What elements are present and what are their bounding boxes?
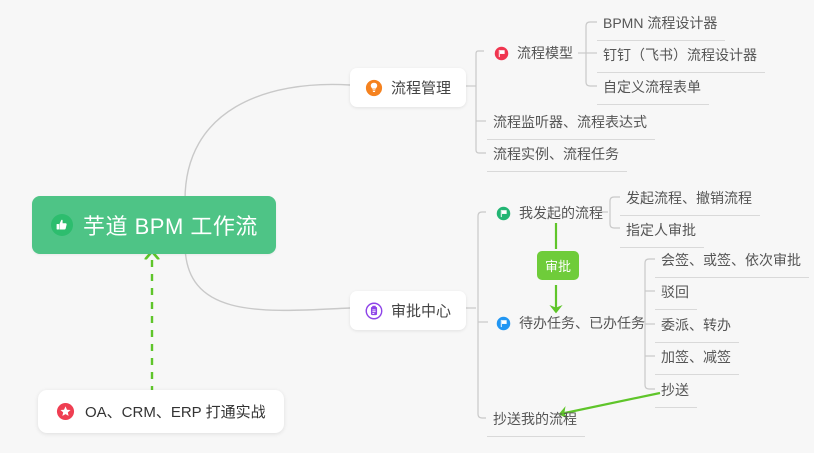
node-label-reject: 驳回 xyxy=(661,282,689,302)
node-my-initiated[interactable]: 我发起的流程 xyxy=(490,198,611,230)
branch-node-approval-center[interactable]: 审批中心 xyxy=(350,291,466,330)
node-custom-form[interactable]: 自定义流程表单 xyxy=(597,72,709,105)
node-label-countersign-approval: 会签、或签、依次审批 xyxy=(661,250,801,270)
flag-icon xyxy=(494,46,509,61)
root-node[interactable]: 芋道 BPM 工作流 xyxy=(32,196,276,254)
node-assigned-approval[interactable]: 指定人审批 xyxy=(620,215,704,248)
node-process-model[interactable]: 流程模型 xyxy=(488,38,581,70)
link-bracket-process-management xyxy=(476,51,486,153)
integration-card[interactable]: OA、CRM、ERP 打通实战 xyxy=(38,390,284,433)
integration-card-label: OA、CRM、ERP 打通实战 xyxy=(85,401,266,422)
node-label-cc-to-me: 抄送我的流程 xyxy=(493,409,577,429)
node-reject[interactable]: 驳回 xyxy=(655,277,697,310)
mindmap-canvas: 芋道 BPM 工作流 流程管理 流程模型 BPMN 流程设计器 钉钉（飞书 xyxy=(0,0,814,453)
flag-icon xyxy=(496,206,511,221)
node-label-delegate-transfer: 委派、转办 xyxy=(661,315,731,335)
node-todo-done-tasks[interactable]: 待办任务、已办任务 xyxy=(490,308,653,340)
node-delegate-transfer[interactable]: 委派、转办 xyxy=(655,310,739,343)
link-bracket-process-model xyxy=(586,22,597,86)
node-label-custom-form: 自定义流程表单 xyxy=(603,77,701,97)
node-dingtalk-designer[interactable]: 钉钉（飞书）流程设计器 xyxy=(597,40,765,73)
approval-tag: 审批 xyxy=(537,251,579,280)
node-label-add-remove-sign: 加签、减签 xyxy=(661,347,731,367)
node-countersign-approval[interactable]: 会签、或签、依次审批 xyxy=(655,245,809,278)
node-label-my-initiated: 我发起的流程 xyxy=(519,203,603,223)
node-label-bpmn-designer: BPMN 流程设计器 xyxy=(603,13,717,33)
root-node-label: 芋道 BPM 工作流 xyxy=(83,209,258,241)
thumbs-up-icon xyxy=(50,213,74,237)
node-cc[interactable]: 抄送 xyxy=(655,375,697,408)
node-label-process-instance: 流程实例、流程任务 xyxy=(493,144,619,164)
node-label-process-listener: 流程监听器、流程表达式 xyxy=(493,112,647,132)
node-label-assigned-approval: 指定人审批 xyxy=(626,220,696,240)
link-bracket-approval-center xyxy=(478,212,486,418)
node-cc-to-me[interactable]: 抄送我的流程 xyxy=(487,404,585,437)
branch-node-process-management[interactable]: 流程管理 xyxy=(350,68,466,107)
branch-label-process-management: 流程管理 xyxy=(391,77,451,98)
clipboard-icon xyxy=(365,302,383,320)
node-label-start-cancel-process: 发起流程、撤销流程 xyxy=(626,188,752,208)
node-add-remove-sign[interactable]: 加签、减签 xyxy=(655,342,739,375)
node-process-instance[interactable]: 流程实例、流程任务 xyxy=(487,139,627,172)
branch-label-approval-center: 审批中心 xyxy=(391,300,451,321)
star-icon xyxy=(56,402,75,421)
flag-icon xyxy=(496,316,511,331)
link-root-to-process-management xyxy=(185,84,350,200)
node-label-dingtalk-designer: 钉钉（飞书）流程设计器 xyxy=(603,45,757,65)
lightbulb-icon xyxy=(365,79,383,97)
node-process-listener[interactable]: 流程监听器、流程表达式 xyxy=(487,107,655,140)
node-label-todo-done-tasks: 待办任务、已办任务 xyxy=(519,313,645,333)
node-bpmn-designer[interactable]: BPMN 流程设计器 xyxy=(597,8,725,41)
node-start-cancel-process[interactable]: 发起流程、撤销流程 xyxy=(620,183,760,216)
approval-tag-label: 审批 xyxy=(545,256,571,275)
node-label-cc: 抄送 xyxy=(661,380,689,400)
node-label-process-model: 流程模型 xyxy=(517,43,573,63)
link-bracket-my-initiated xyxy=(610,197,620,228)
